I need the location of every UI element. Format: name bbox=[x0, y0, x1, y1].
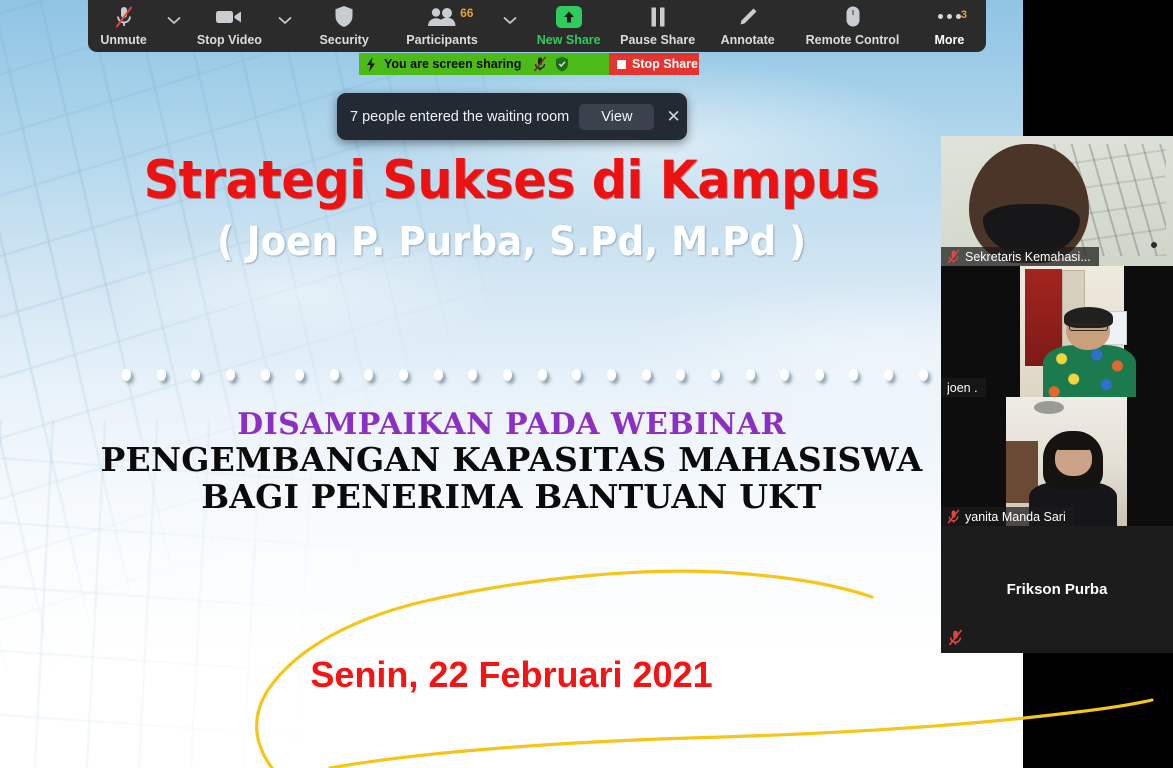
slide-dot bbox=[503, 369, 512, 381]
microphone-muted-icon bbox=[114, 4, 134, 30]
slide-dot bbox=[919, 369, 928, 381]
slide-dot bbox=[399, 369, 408, 381]
microphone-muted-icon bbox=[947, 509, 960, 524]
mouse-icon bbox=[845, 4, 861, 30]
video-tile-yanita[interactable]: yanita Manda Sari bbox=[941, 397, 1173, 526]
slide-webinar-line: DISAMPAIKAN PADA WEBINAR bbox=[0, 407, 1023, 442]
toolbar-remote-control-button[interactable]: Remote Control bbox=[792, 0, 913, 52]
slide-dot bbox=[849, 369, 858, 381]
waiting-room-message: 7 people entered the waiting room bbox=[350, 109, 569, 125]
slide-dot bbox=[434, 369, 443, 381]
pencil-icon bbox=[737, 4, 759, 30]
video-tile-sekretaris[interactable]: Sekretaris Kemahasi... bbox=[941, 136, 1173, 266]
slide-dot bbox=[226, 369, 235, 381]
toolbar-more-label: More bbox=[934, 33, 964, 47]
slide-dot-divider bbox=[122, 366, 928, 384]
chevron-down-icon bbox=[167, 16, 181, 25]
participants-count-badge: 66 bbox=[460, 6, 473, 20]
video-camera-icon bbox=[215, 4, 243, 30]
waiting-room-notification: 7 people entered the waiting room View ✕ bbox=[337, 93, 687, 140]
slide-date: Senin, 22 Februari 2021 bbox=[0, 654, 1023, 696]
toolbar-video-options-caret[interactable] bbox=[270, 0, 300, 52]
slide-dot bbox=[261, 369, 270, 381]
slide-dot bbox=[780, 369, 789, 381]
video-tile-joen[interactable]: joen . bbox=[941, 266, 1173, 397]
slide-dot bbox=[364, 369, 373, 381]
toolbar-annotate-label: Annotate bbox=[721, 33, 775, 47]
slide-dot bbox=[607, 369, 616, 381]
video-tile-namebar: joen . bbox=[941, 378, 986, 397]
toolbar-security-label: Security bbox=[319, 33, 368, 47]
toolbar-annotate-button[interactable]: Annotate bbox=[703, 0, 792, 52]
video-tile-name: yanita Manda Sari bbox=[965, 510, 1066, 524]
screen-sharing-status-text: You are screen sharing bbox=[384, 57, 521, 71]
toolbar-pause-share-label: Pause Share bbox=[620, 33, 695, 47]
slide-dot bbox=[642, 369, 651, 381]
toolbar-more-button[interactable]: 3 More bbox=[913, 0, 986, 52]
microphone-muted-icon bbox=[947, 249, 960, 264]
slide-dot bbox=[746, 369, 755, 381]
zoom-meeting-toolbar: Unmute Stop Video Security bbox=[88, 0, 986, 52]
bolt-icon bbox=[366, 57, 376, 72]
video-tile-name: joen . bbox=[947, 381, 978, 395]
chevron-down-icon bbox=[278, 16, 292, 25]
video-tile-namebar: Sekretaris Kemahasi... bbox=[941, 247, 1099, 266]
waiting-room-view-button[interactable]: View bbox=[579, 104, 654, 130]
slide-dot bbox=[157, 369, 166, 381]
toolbar-stop-video-label: Stop Video bbox=[197, 33, 262, 47]
slide-dot bbox=[295, 369, 304, 381]
slide-dot bbox=[330, 369, 339, 381]
toolbar-security-button[interactable]: Security bbox=[300, 0, 389, 52]
slide-title: Strategi Sukses di Kampus bbox=[36, 150, 987, 211]
toolbar-pause-share-button[interactable]: Pause Share bbox=[612, 0, 703, 52]
stop-share-button[interactable]: Stop Share bbox=[609, 53, 699, 75]
microphone-muted-icon bbox=[948, 629, 963, 646]
more-badge: 3 bbox=[961, 9, 967, 21]
video-tile-frikson[interactable]: Frikson Purba bbox=[941, 526, 1173, 653]
toolbar-participants-label: Participants bbox=[406, 33, 478, 47]
slide-dot bbox=[122, 369, 131, 381]
toolbar-participants-options-caret[interactable] bbox=[495, 0, 525, 52]
toolbar-new-share-label: New Share bbox=[537, 33, 601, 47]
slide-dot bbox=[191, 369, 200, 381]
toolbar-remote-control-label: Remote Control bbox=[806, 33, 900, 47]
slide-dot bbox=[468, 369, 477, 381]
participants-icon: 66 bbox=[425, 4, 459, 30]
share-up-arrow-icon bbox=[556, 4, 582, 30]
shield-icon bbox=[334, 4, 354, 30]
toolbar-new-share-button[interactable]: New Share bbox=[525, 0, 612, 52]
shield-icon[interactable] bbox=[555, 56, 569, 72]
slide-topic-line-2: BAGI PENERIMA BANTUAN UKT bbox=[0, 477, 1023, 516]
participant-video-panel: Sekretaris Kemahasi... joen . bbox=[941, 136, 1173, 653]
slide-topic-line-1: PENGEMBANGAN KAPASITAS MAHASISWA bbox=[0, 440, 1023, 479]
slide-dot bbox=[676, 369, 685, 381]
slide-dot bbox=[538, 369, 547, 381]
video-tile-name: Frikson Purba bbox=[941, 526, 1173, 653]
zoom-screen-share-window: Strategi Sukses di Kampus ( Joen P. Purb… bbox=[0, 0, 1173, 768]
microphone-muted-icon[interactable] bbox=[533, 56, 547, 72]
slide-dot bbox=[711, 369, 720, 381]
toolbar-audio-options-caret[interactable] bbox=[159, 0, 189, 52]
toolbar-participants-button[interactable]: 66 Participants bbox=[389, 0, 496, 52]
screen-sharing-status-bar: You are screen sharing bbox=[359, 53, 649, 75]
video-tile-name: Sekretaris Kemahasi... bbox=[965, 250, 1091, 264]
stop-share-label: Stop Share bbox=[632, 57, 698, 71]
slide-subtitle: ( Joen P. Purba, S.Pd, M.Pd ) bbox=[36, 219, 987, 265]
slide-dot bbox=[884, 369, 893, 381]
pause-icon bbox=[648, 4, 668, 30]
chevron-down-icon bbox=[503, 16, 517, 25]
toolbar-stop-video-button[interactable]: Stop Video bbox=[189, 0, 270, 52]
video-tile-namebar: yanita Manda Sari bbox=[941, 507, 1074, 526]
toolbar-unmute-label: Unmute bbox=[100, 33, 147, 47]
toolbar-unmute-button[interactable]: Unmute bbox=[88, 0, 159, 52]
stop-square-icon bbox=[617, 60, 626, 69]
close-icon[interactable]: ✕ bbox=[666, 108, 680, 125]
slide-dot bbox=[572, 369, 581, 381]
ellipsis-icon: 3 bbox=[938, 4, 961, 30]
slide-dot bbox=[815, 369, 824, 381]
